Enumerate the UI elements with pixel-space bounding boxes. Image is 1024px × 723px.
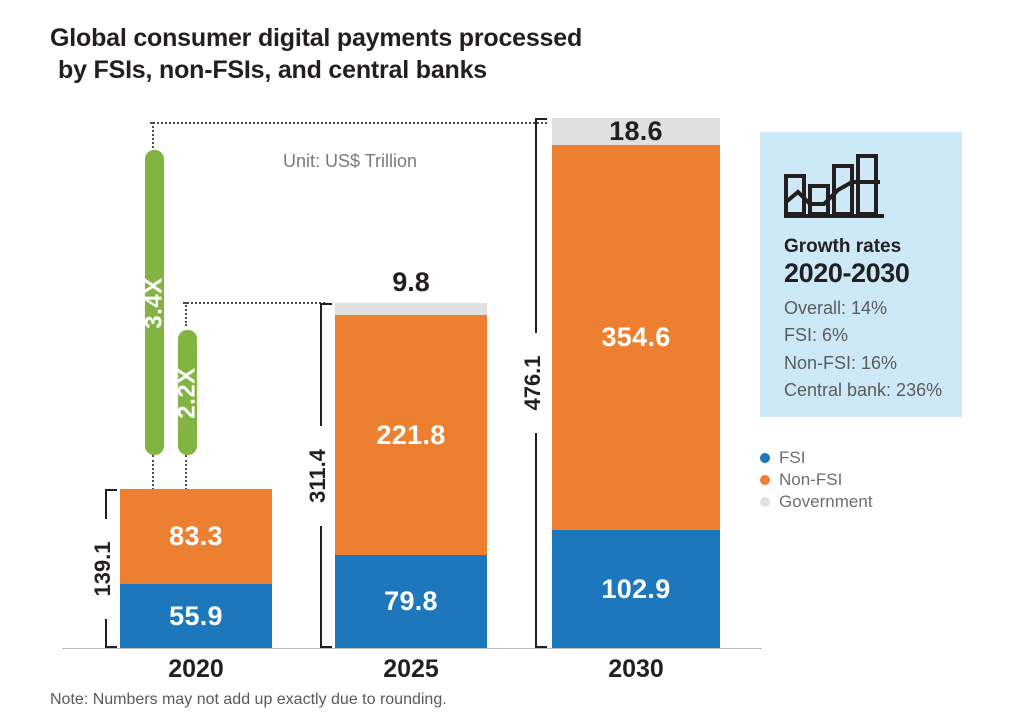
bracket-tick-bottom — [320, 646, 332, 648]
leader-line-2-2x-top — [183, 302, 325, 304]
bar-2020: 83.3 55.9 — [120, 489, 272, 648]
growth-rate-overall: Overall: 14% — [784, 295, 952, 322]
chart-legend: FSI Non-FSI Government — [760, 447, 873, 513]
bracket-tick-top — [535, 118, 547, 120]
bracket-tick-bottom — [105, 646, 117, 648]
growth-rates-list: Overall: 14% FSI: 6% Non-FSI: 16% Centra… — [784, 295, 952, 404]
bar-2030-segment-gov: 18.6 — [552, 118, 720, 145]
legend-label-fsi: FSI — [779, 448, 805, 468]
bar-2025-segment-fsi: 79.8 — [335, 555, 487, 648]
growth-rate-fsi: FSI: 6% — [784, 322, 952, 349]
growth-rates-box: Growth rates 2020-2030 Overall: 14% FSI:… — [760, 132, 962, 417]
multiplier-bar-2-2x: 2.2X — [178, 330, 197, 455]
bar-2030-segment-nonfsi: 354.6 — [552, 145, 720, 530]
x-axis-line — [62, 648, 762, 649]
multiplier-bar-3-4x: 3.4X — [145, 150, 164, 455]
leader-tick-2-2x-top — [185, 302, 187, 326]
bar-2030-segment-fsi: 102.9 — [552, 530, 720, 648]
bar-2025-segment-gov — [335, 303, 487, 315]
bar-2020-value-nonfsi: 83.3 — [169, 521, 223, 552]
legend-label-government: Government — [779, 492, 873, 512]
total-value-2020: 139.1 — [88, 519, 118, 619]
total-value-2030: 476.1 — [518, 333, 548, 433]
chart-canvas: Global consumer digital payments process… — [0, 0, 1024, 723]
multiplier-label-2-2x: 2.2X — [174, 367, 202, 418]
bar-2030-value-fsi: 102.9 — [601, 574, 670, 605]
total-value-2025: 311.4 — [303, 426, 333, 526]
growth-rates-heading: Growth rates — [784, 236, 901, 258]
legend-label-nonfsi: Non-FSI — [779, 470, 842, 490]
bracket-tick-top — [105, 489, 117, 491]
legend-dot-fsi — [760, 453, 770, 463]
bracket-tick-bottom — [535, 646, 547, 648]
leader-tick-3-4x-top — [152, 122, 154, 148]
bar-2025: 9.8 221.8 79.8 — [335, 303, 487, 648]
legend-item-government[interactable]: Government — [760, 491, 873, 513]
x-label-2020: 2020 — [120, 655, 272, 684]
bar-line-chart-icon — [784, 154, 894, 229]
bar-2025-segment-nonfsi: 221.8 — [335, 315, 487, 555]
bar-2025-value-nonfsi: 221.8 — [376, 420, 445, 451]
legend-item-fsi[interactable]: FSI — [760, 447, 873, 469]
bracket-tick-top — [320, 303, 332, 305]
footnote: Note: Numbers may not add up exactly due… — [50, 691, 447, 709]
bar-2025-value-fsi: 79.8 — [384, 586, 438, 617]
bar-2020-segment-fsi: 55.9 — [120, 584, 272, 648]
growth-rate-nonfsi: Non-FSI: 16% — [784, 350, 952, 377]
leader-tick-3-4x-bottom — [152, 455, 154, 490]
legend-dot-nonfsi — [760, 475, 770, 485]
bar-2020-segment-nonfsi: 83.3 — [120, 489, 272, 584]
multiplier-label-3-4x: 3.4X — [141, 277, 169, 328]
growth-rate-central-bank: Central bank: 236% — [784, 377, 952, 404]
legend-item-nonfsi[interactable]: Non-FSI — [760, 469, 873, 491]
unit-label: Unit: US$ Trillion — [283, 151, 417, 172]
bar-2020-value-fsi: 55.9 — [169, 601, 223, 632]
legend-dot-government — [760, 497, 770, 507]
bar-2030-value-nonfsi: 354.6 — [601, 322, 670, 353]
leader-line-3-4x-top — [150, 122, 547, 124]
growth-rates-period: 2020-2030 — [784, 258, 910, 289]
bar-2025-value-gov: 9.8 — [335, 267, 487, 298]
leader-tick-2-2x-bottom — [185, 455, 187, 490]
x-label-2025: 2025 — [335, 655, 487, 684]
bar-2030-value-gov: 18.6 — [609, 116, 663, 147]
x-label-2030: 2030 — [552, 655, 720, 684]
bar-2030: 18.6 354.6 102.9 — [552, 118, 720, 648]
